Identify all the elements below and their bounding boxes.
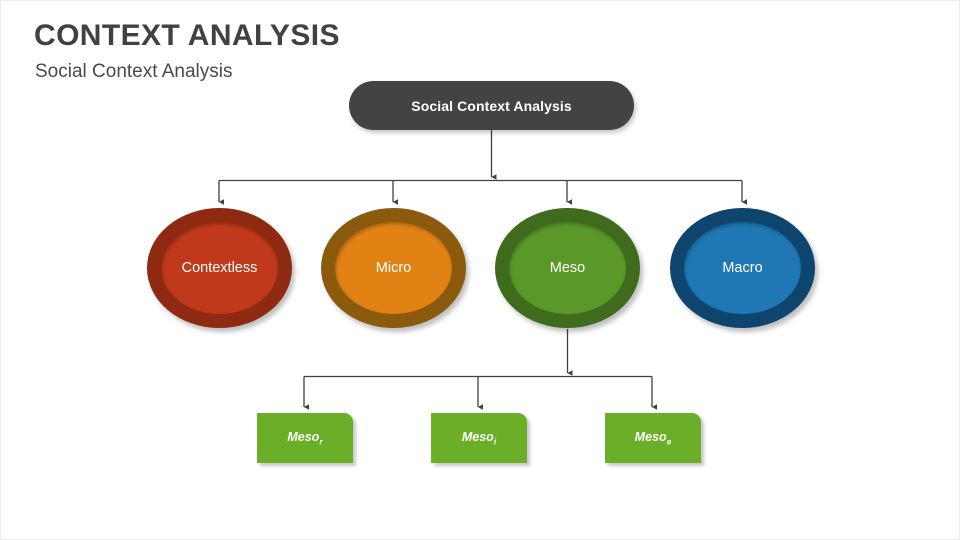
node-macro-label: Macro bbox=[722, 260, 762, 276]
node-meso-e[interactable]: Mesoe bbox=[605, 413, 701, 463]
node-meso-i-subscript: i bbox=[494, 436, 496, 446]
node-meso-label: Meso bbox=[550, 260, 585, 276]
node-meso-i-label: Mesoi bbox=[462, 430, 496, 447]
node-meso-r-subscript: r bbox=[319, 436, 322, 446]
node-meso-e-base: Meso bbox=[635, 430, 667, 444]
node-meso-r-base: Meso bbox=[287, 430, 319, 444]
node-macro[interactable]: Macro bbox=[670, 208, 815, 328]
node-meso-r-label: Mesor bbox=[287, 430, 322, 447]
node-contextless-inner: Contextless bbox=[161, 222, 278, 314]
slide-canvas: CONTEXT ANALYSIS Social Context Analysis bbox=[0, 0, 960, 540]
node-contextless-label: Contextless bbox=[182, 260, 258, 276]
node-micro[interactable]: Micro bbox=[321, 208, 466, 328]
node-meso-i[interactable]: Mesoi bbox=[431, 413, 527, 463]
node-meso-r[interactable]: Mesor bbox=[257, 413, 353, 463]
node-meso-e-label: Mesoe bbox=[635, 430, 672, 447]
node-micro-label: Micro bbox=[376, 260, 411, 276]
node-root-social-context-analysis[interactable]: Social Context Analysis bbox=[349, 81, 634, 130]
node-micro-inner: Micro bbox=[335, 222, 452, 314]
node-meso-e-subscript: e bbox=[667, 436, 672, 446]
node-meso-i-base: Meso bbox=[462, 430, 494, 444]
node-meso[interactable]: Meso bbox=[495, 208, 640, 328]
node-contextless[interactable]: Contextless bbox=[147, 208, 292, 328]
node-macro-inner: Macro bbox=[684, 222, 801, 314]
node-meso-inner: Meso bbox=[509, 222, 626, 314]
node-root-label: Social Context Analysis bbox=[411, 98, 572, 114]
